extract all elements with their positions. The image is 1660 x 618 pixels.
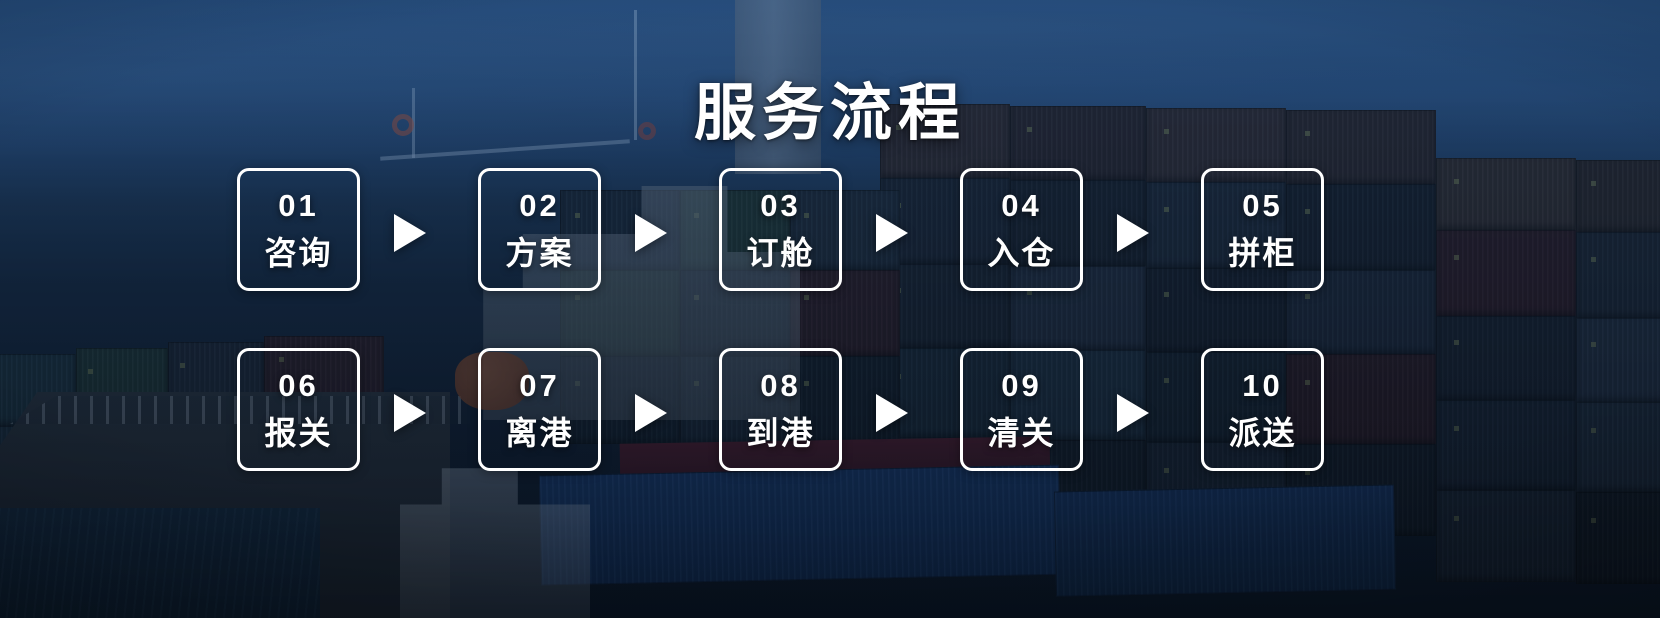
arrow-right-icon bbox=[394, 214, 426, 252]
process-step-05[interactable]: 05 拼柜 bbox=[1201, 168, 1324, 291]
step-label: 离港 bbox=[505, 417, 573, 449]
step-number: 04 bbox=[1001, 190, 1041, 221]
step-label: 派送 bbox=[1228, 417, 1296, 449]
step-number: 10 bbox=[1242, 370, 1282, 401]
step-number: 02 bbox=[519, 190, 559, 221]
step-label: 拼柜 bbox=[1228, 237, 1296, 269]
arrow-right-icon bbox=[1117, 214, 1149, 252]
arrow-right-icon bbox=[635, 214, 667, 252]
process-step-02[interactable]: 02 方案 bbox=[478, 168, 601, 291]
step-number: 01 bbox=[278, 190, 318, 221]
step-number: 03 bbox=[760, 190, 800, 221]
arrow-right-icon bbox=[876, 214, 908, 252]
page-title: 服务流程 bbox=[0, 62, 1660, 152]
step-number: 08 bbox=[760, 370, 800, 401]
process-step-07[interactable]: 07 离港 bbox=[478, 348, 601, 471]
step-label: 到港 bbox=[746, 417, 814, 449]
arrow-right-icon bbox=[1117, 394, 1149, 432]
process-step-01[interactable]: 01 咨询 bbox=[237, 168, 360, 291]
step-label: 咨询 bbox=[264, 237, 332, 269]
process-step-04[interactable]: 04 入仓 bbox=[960, 168, 1083, 291]
step-number: 09 bbox=[1001, 370, 1041, 401]
step-label: 报关 bbox=[264, 417, 332, 449]
service-process-banner: 服务流程 01 咨询 02 方案 03 订舱 bbox=[0, 0, 1660, 618]
step-label: 方案 bbox=[505, 237, 573, 269]
step-label: 清关 bbox=[987, 417, 1055, 449]
step-number: 06 bbox=[278, 370, 318, 401]
process-step-03[interactable]: 03 订舱 bbox=[719, 168, 842, 291]
process-step-06[interactable]: 06 报关 bbox=[237, 348, 360, 471]
banner-content: 服务流程 01 咨询 02 方案 03 订舱 bbox=[0, 0, 1660, 618]
arrow-right-icon bbox=[394, 394, 426, 432]
step-number: 07 bbox=[519, 370, 559, 401]
step-number: 05 bbox=[1242, 190, 1282, 221]
process-step-10[interactable]: 10 派送 bbox=[1201, 348, 1324, 471]
process-step-09[interactable]: 09 清关 bbox=[960, 348, 1083, 471]
arrow-right-icon bbox=[635, 394, 667, 432]
arrow-right-icon bbox=[876, 394, 908, 432]
step-label: 订舱 bbox=[746, 237, 814, 269]
step-label: 入仓 bbox=[987, 237, 1055, 269]
process-step-08[interactable]: 08 到港 bbox=[719, 348, 842, 471]
